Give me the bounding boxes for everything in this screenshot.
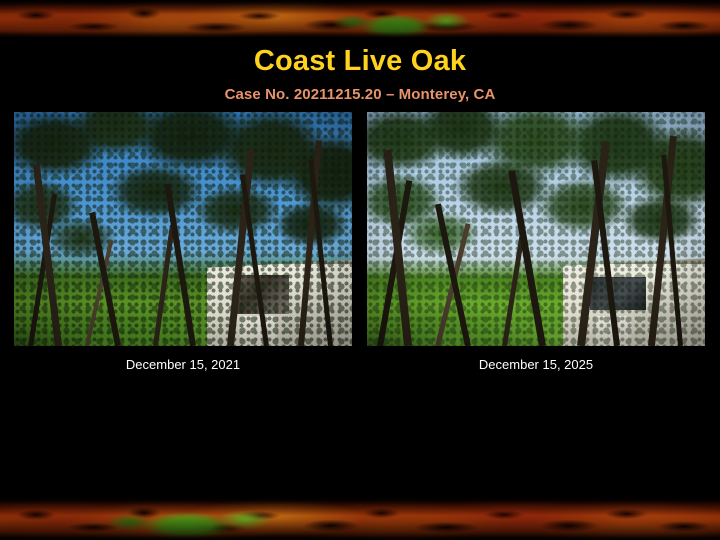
photo-2025[interactable] bbox=[367, 112, 705, 346]
photo-2021[interactable] bbox=[14, 112, 352, 346]
photo-cell-2021 bbox=[14, 112, 352, 346]
leaf-edge-fade bbox=[0, 498, 720, 540]
bottom-leaf-border bbox=[0, 498, 720, 540]
photo-vignette bbox=[367, 112, 705, 346]
page-subtitle: Case No. 20211215.20 – Monterey, CA bbox=[0, 85, 720, 104]
leaf-edge-fade bbox=[0, 0, 720, 38]
page-title: Coast Live Oak bbox=[0, 44, 720, 78]
photo-cell-2025 bbox=[367, 112, 705, 346]
top-leaf-border bbox=[0, 0, 720, 38]
slide: Coast Live Oak Case No. 20211215.20 – Mo… bbox=[0, 0, 720, 540]
caption-2025: December 15, 2025 bbox=[367, 356, 705, 373]
title-block: Coast Live Oak Case No. 20211215.20 – Mo… bbox=[0, 44, 720, 104]
caption-2021: December 15, 2021 bbox=[14, 356, 352, 373]
photo-comparison-row bbox=[14, 112, 706, 346]
photo-vignette bbox=[14, 112, 352, 346]
